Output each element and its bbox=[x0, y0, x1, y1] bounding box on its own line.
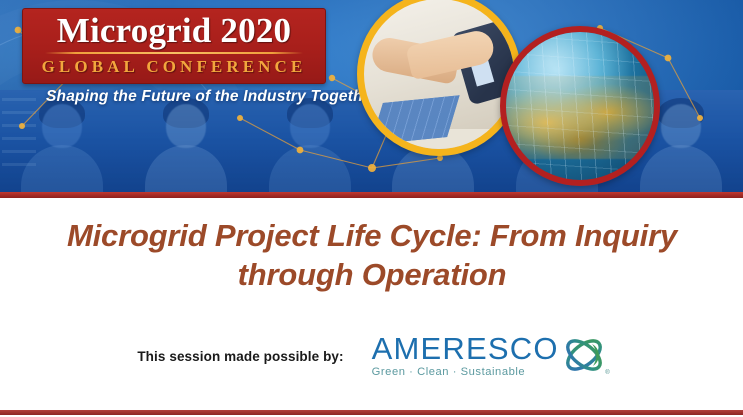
sponsor-row: This session made possible by: AMERESCO … bbox=[0, 333, 743, 380]
presentation-slide: Microgrid 2020 GLOBAL CONFERENCE Shaping… bbox=[0, 0, 743, 417]
conference-tagline: Shaping the Future of the Industry Toget… bbox=[46, 88, 378, 106]
footer-divider-rule bbox=[0, 410, 743, 415]
ameresco-logo-text: AMERESCO Green · Clean · Sustainable bbox=[372, 333, 559, 379]
conference-logo: Microgrid 2020 GLOBAL CONFERENCE bbox=[22, 8, 326, 84]
conference-logo-subtitle: GLOBAL CONFERENCE bbox=[23, 57, 325, 76]
ameresco-logo: AMERESCO Green · Clean · Sustainable bbox=[372, 333, 606, 380]
header-banner: Microgrid 2020 GLOBAL CONFERENCE Shaping… bbox=[0, 0, 743, 193]
sponsor-label: This session made possible by: bbox=[137, 349, 343, 364]
ameresco-tagline: Green · Clean · Sustainable bbox=[372, 366, 559, 379]
session-title: Microgrid Project Life Cycle: From Inqui… bbox=[42, 216, 702, 294]
conference-logo-title: Microgrid 2020 bbox=[23, 10, 325, 52]
handshake-photo bbox=[357, 0, 521, 156]
ameresco-wordmark: AMERESCO bbox=[372, 333, 559, 365]
registered-trademark-symbol: ® bbox=[605, 370, 609, 376]
orbit-swoosh-icon bbox=[562, 335, 606, 375]
ameresco-orbit-icon: ® bbox=[562, 335, 606, 380]
globe-network-photo bbox=[500, 26, 660, 186]
session-title-line-2: through Operation bbox=[238, 257, 507, 292]
conference-logo-divider bbox=[45, 52, 303, 54]
session-title-line-1: Microgrid Project Life Cycle: From Inqui… bbox=[67, 218, 677, 253]
header-divider-rule bbox=[0, 192, 743, 198]
